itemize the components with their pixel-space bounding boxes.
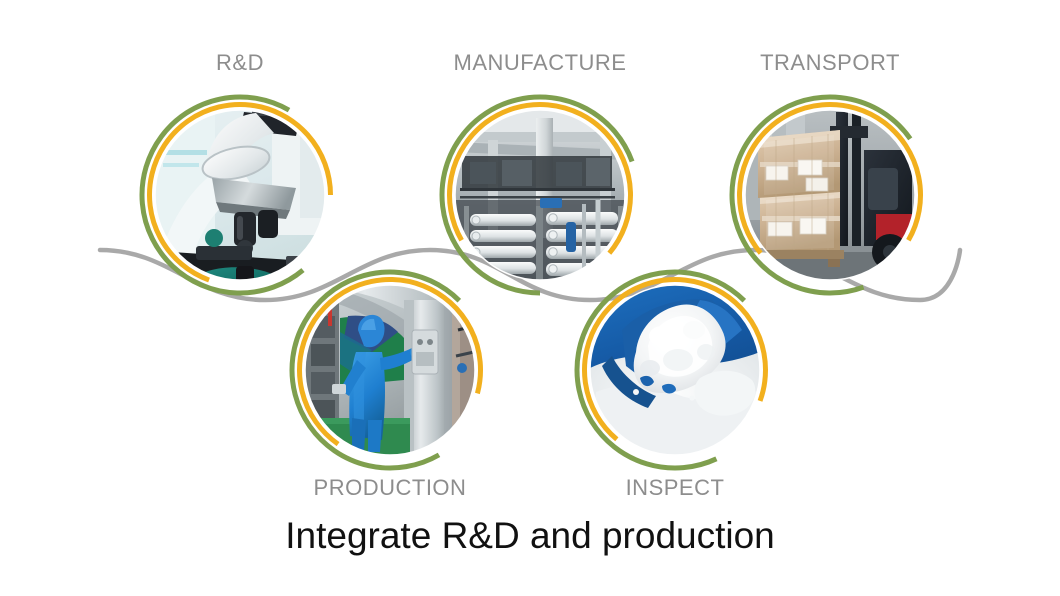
node-label-inspect: INSPECT xyxy=(545,475,805,501)
node-label-manufacture: MANUFACTURE xyxy=(410,50,670,76)
page-caption: Integrate R&D and production xyxy=(0,515,1060,557)
connector-wave xyxy=(100,250,960,300)
node-label-transport: TRANSPORT xyxy=(700,50,960,76)
node-label-rd: R&D xyxy=(110,50,370,76)
process-infographic: R&D MANUFACTURE TRANSPORT PRODUCTION INS… xyxy=(0,0,1060,596)
connector-wave-layer xyxy=(0,0,1060,596)
node-label-production: PRODUCTION xyxy=(260,475,520,501)
